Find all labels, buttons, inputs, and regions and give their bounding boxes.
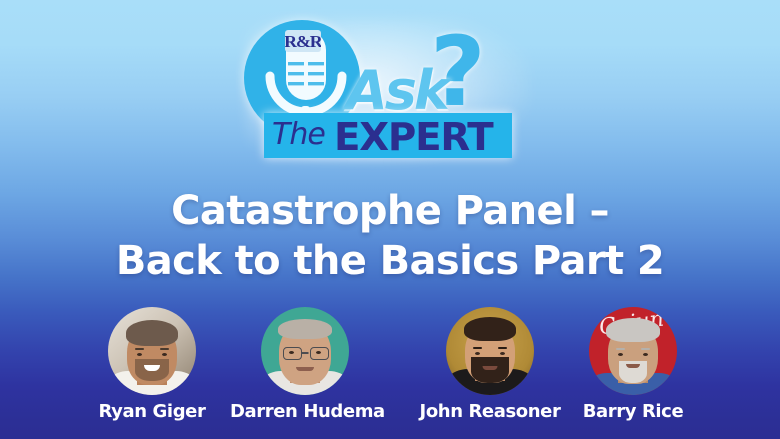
panelist-name: Barry Rice (558, 401, 708, 423)
panelist-ryan-giger: Ryan Giger (77, 307, 227, 423)
panelist-darren-hudema: Darren Hudema (230, 307, 380, 423)
avatar-barry-rice: Cajun (589, 307, 677, 395)
panelist-barry-rice: Cajun Barry Rice (558, 307, 708, 423)
panelist-john-reasoner: John Reasoner (415, 307, 565, 423)
avatar-ryan-giger (108, 307, 196, 395)
ask-the-expert-logo: R&R ? Ask The EXPERT (238, 12, 538, 162)
logo-ask-word: Ask (346, 64, 447, 118)
logo-expert-word: EXPERT (334, 115, 492, 160)
presentation-slide: R&R ? Ask The EXPERT Catastrophe Panel –… (0, 0, 780, 439)
panelist-name: Ryan Giger (77, 401, 227, 423)
avatar-john-reasoner (446, 307, 534, 395)
panelist-name: Darren Hudema (230, 401, 380, 423)
rr-monogram-text: R&R (285, 33, 321, 50)
slide-title-line-1: Catastrophe Panel – (0, 186, 780, 236)
slide-title-line-2: Back to the Basics Part 2 (0, 236, 780, 286)
avatar-darren-hudema (261, 307, 349, 395)
logo-the-word: The (272, 116, 325, 154)
rr-monogram: R&R (285, 30, 321, 52)
panelist-row: Ryan Giger Darren Hudema (0, 307, 780, 432)
panelist-name: John Reasoner (415, 401, 565, 423)
slide-title: Catastrophe Panel – Back to the Basics P… (0, 186, 780, 286)
